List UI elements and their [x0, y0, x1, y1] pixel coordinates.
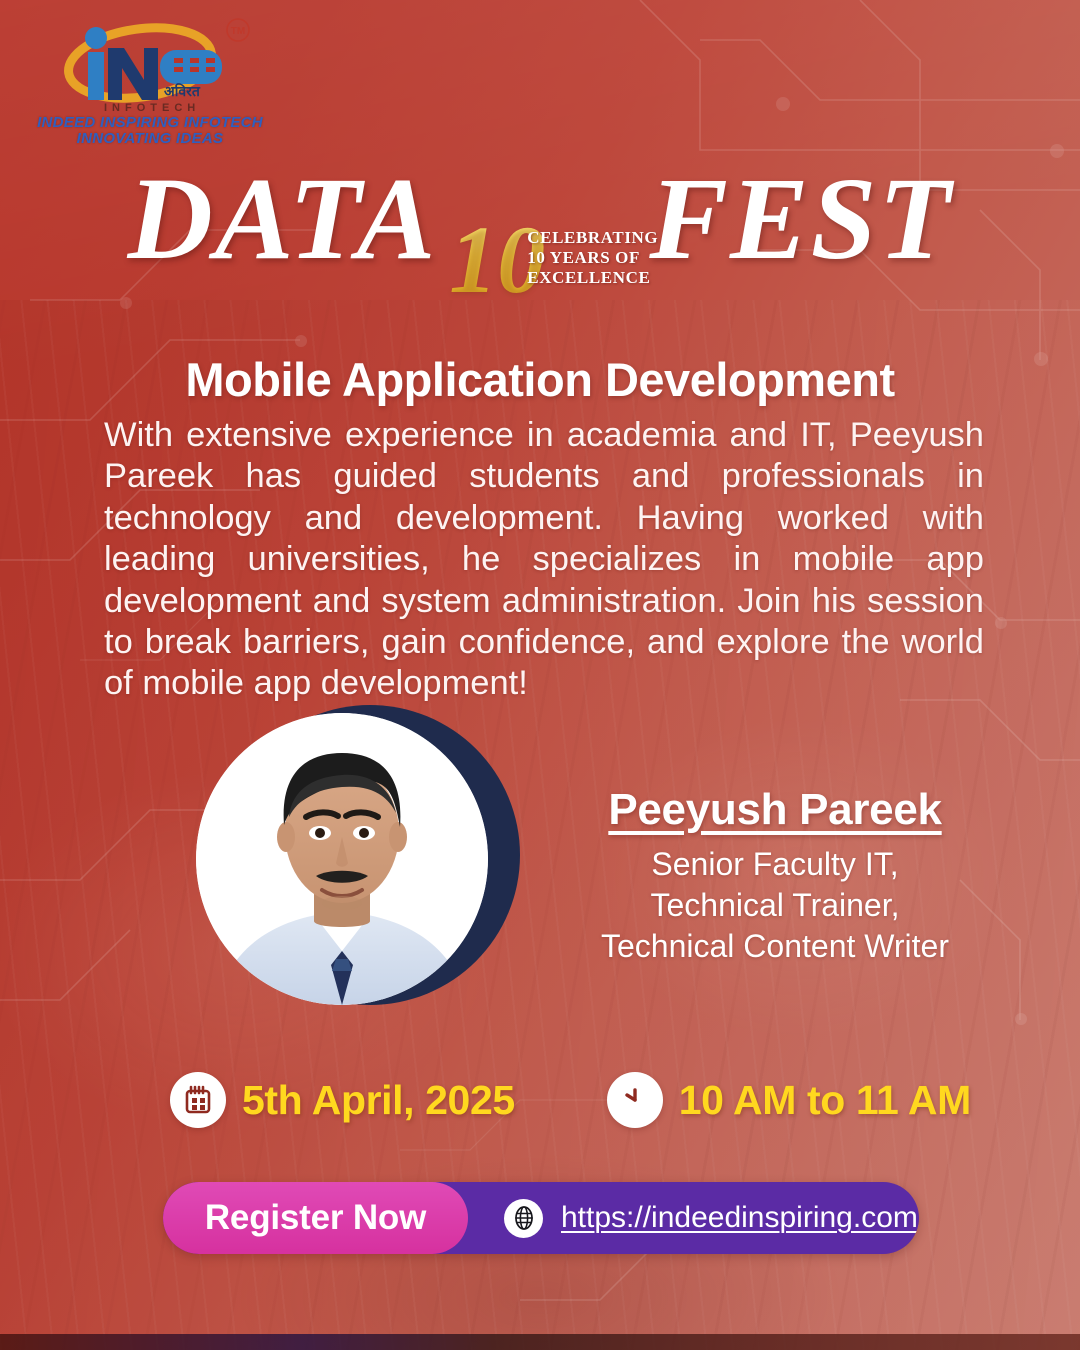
- svg-text:अविरत: अविरत: [164, 83, 201, 100]
- event-title-fest: FEST: [649, 160, 952, 278]
- event-title-data: DATA: [128, 160, 438, 278]
- speaker-role-line1: Senior Faculty IT,: [530, 844, 1020, 885]
- avatar: [196, 713, 488, 1005]
- anniversary-caption: CELEBRATING 10 YEARS OF EXCELLENCE: [527, 228, 658, 288]
- speaker-role: Senior Faculty IT, Technical Trainer, Te…: [530, 844, 1020, 967]
- event-time: 10 AM to 11 AM: [679, 1077, 971, 1124]
- company-logo[interactable]: अविरत INFOTECH TM INDEED INSPIRING INFOT…: [30, 18, 270, 143]
- logo-mark: अविरत INFOTECH TM: [52, 18, 252, 113]
- calendar-icon: [170, 1072, 226, 1128]
- anniversary-caption-line2: 10 YEARS OF: [527, 248, 658, 268]
- speaker-info: Peeyush Pareek Senior Faculty IT, Techni…: [530, 785, 1020, 967]
- session-headline: Mobile Application Development: [60, 352, 1020, 407]
- speaker-photo: [196, 705, 516, 1025]
- poster-canvas: अविरत INFOTECH TM INDEED INSPIRING INFOT…: [0, 0, 1080, 1350]
- website-url[interactable]: https://indeedinspiring.com/: [561, 1201, 919, 1235]
- event-date: 5th April, 2025: [242, 1077, 515, 1124]
- globe-icon: [504, 1199, 543, 1238]
- schedule-row: 5th April, 2025 10 AM to 11 AM: [170, 1072, 971, 1128]
- schedule-time-item: 10 AM to 11 AM: [607, 1072, 971, 1128]
- svg-text:INFOTECH: INFOTECH: [104, 102, 200, 113]
- speaker-role-line3: Technical Content Writer: [530, 926, 1020, 967]
- speaker-portrait-illustration: [196, 713, 488, 1005]
- session-description: With extensive experience in academia an…: [104, 415, 984, 705]
- speaker-role-line2: Technical Trainer,: [530, 885, 1020, 926]
- svg-text:TM: TM: [231, 26, 245, 37]
- speaker-name: Peeyush Pareek: [530, 785, 1020, 835]
- cta-bar: Register Now https://indeedinspiring.com…: [163, 1182, 919, 1254]
- anniversary-caption-line1: CELEBRATING: [527, 228, 658, 248]
- indeed-infotech-logo-icon: अविरत INFOTECH TM: [52, 18, 252, 113]
- bottom-strip-decoration: [0, 1334, 1080, 1350]
- anniversary-badge: 10 CELEBRATING 10 YEARS OF EXCELLENCE: [445, 212, 645, 332]
- schedule-date-item: 5th April, 2025: [170, 1072, 515, 1128]
- clock-icon: [607, 1072, 663, 1128]
- speaker-block: Peeyush Pareek Senior Faculty IT, Techni…: [0, 700, 1080, 1060]
- register-now-button[interactable]: Register Now: [163, 1182, 468, 1254]
- event-title-block: DATA 10 CELEBRATING 10 YEARS OF EXCELLEN…: [0, 160, 1080, 335]
- logo-tagline-line1: INDEED INSPIRING INFOTECH: [30, 114, 270, 131]
- logo-tagline-line2: INNOVATING IDEAS: [30, 130, 270, 147]
- website-link-group[interactable]: https://indeedinspiring.com/: [504, 1199, 919, 1238]
- anniversary-caption-line3: EXCELLENCE: [527, 268, 658, 288]
